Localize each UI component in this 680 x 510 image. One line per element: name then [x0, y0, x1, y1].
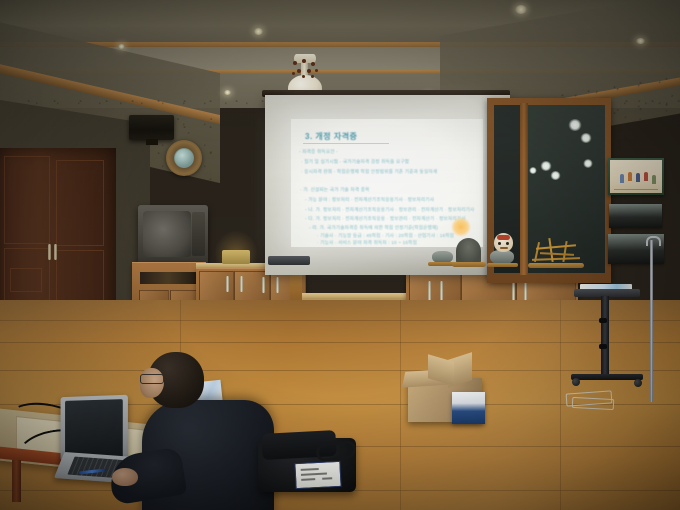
crt-screen [143, 211, 191, 257]
counter-device[interactable] [268, 256, 310, 265]
cart-column [601, 296, 609, 376]
cabinet-handle-3[interactable] [262, 277, 265, 293]
projected-slide: 3. 개정 자격증 - 자격증 취득요건 - · 필기 및 실기시험 - 국가기… [291, 119, 483, 247]
slide-title: 3. 개정 자격증 [305, 131, 357, 142]
crt-side-panel [192, 212, 205, 256]
wall-photo-upper [609, 204, 662, 228]
table-leg-left [12, 460, 21, 502]
slide-bullet-4: - 가능 분야 : 정보처리 · 전자계산기조직응용기사 · 정보처리기사 [305, 197, 434, 203]
framed-folk-painting [608, 158, 664, 195]
slide-bullet-8: · 기술사 · 기능장 등급 : 45학점 · 기사 : 20학점 · 산업기사… [317, 233, 454, 239]
hahoe-mask [494, 233, 513, 252]
cart-height-knob-1[interactable] [599, 318, 607, 323]
eyeglasses [140, 374, 164, 384]
cabinet-handle-1[interactable] [226, 276, 229, 292]
cabinet-handle-2[interactable] [240, 276, 243, 292]
orange-glow [451, 217, 471, 237]
presenter-hand [112, 468, 138, 486]
flower-pot [222, 250, 250, 264]
pottery-stand [487, 263, 518, 267]
product-box[interactable] [452, 392, 485, 424]
cart-height-knob-2[interactable] [599, 344, 607, 349]
downlight-4 [224, 90, 231, 95]
slide-bullet-1: · 응시자격 완화 - 학점은행제 학점 인정범위를 기존 기준과 동일하게 [301, 169, 437, 175]
wall-speaker [129, 115, 174, 140]
slide-subtitle: - 자격증 취득요건 - [299, 149, 338, 155]
window-mullion [520, 103, 528, 275]
cabinet-handle-4[interactable] [276, 277, 279, 293]
gat-stand [452, 262, 486, 267]
downlight-2 [515, 5, 527, 14]
wooden-frame-model [530, 236, 582, 266]
downlight-5 [636, 38, 645, 44]
slide-bullet-5: - 나. 가. 정보처리 · 전자계산기조직응용기사 · 정보관리 · 전자계산… [305, 207, 474, 213]
cart-base [571, 374, 643, 380]
luggage-tag [294, 461, 341, 489]
slide-bullet-9: · 기능사 · 서비스 분야 자격 취득자 : 10 ~ 16학점 [317, 240, 417, 246]
slide-bullet-3: · 가. 신설되는 국가 기술 자격 종목 [300, 187, 370, 193]
painting-canvas [610, 160, 662, 193]
room-photo: 3. 개정 자격증 - 자격증 취득요건 - · 필기 및 실기시험 - 국가기… [0, 0, 680, 510]
slide-bullet-0: · 필기 및 실기시험 - 국가기술자격 검정 취득을 요구함 [301, 159, 409, 165]
pole-hook [646, 236, 661, 246]
traditional-gat-hat [456, 238, 481, 264]
laptop-screen [65, 399, 123, 458]
slide-bullet-7: - 라. 가. 국가기술자격증 취득에 의한 학점 인정기준(학점은행제) [309, 225, 438, 231]
downlight-6 [118, 44, 125, 49]
speaker-bracket [146, 139, 158, 145]
clothes-hanger-2[interactable] [572, 397, 615, 410]
telescoping-pole[interactable] [650, 240, 653, 402]
clock-face [175, 149, 193, 167]
cart-caster-left [572, 378, 580, 386]
slide-bullet-6: - 다. 가. 정보처리 · 전자계산기조직응용 · 정보관리 · 전자계산기 … [305, 216, 466, 222]
model-base [528, 263, 584, 268]
tv-stand-grille [140, 272, 196, 284]
downlight-1 [254, 28, 263, 35]
cart-caster-right [634, 379, 642, 387]
